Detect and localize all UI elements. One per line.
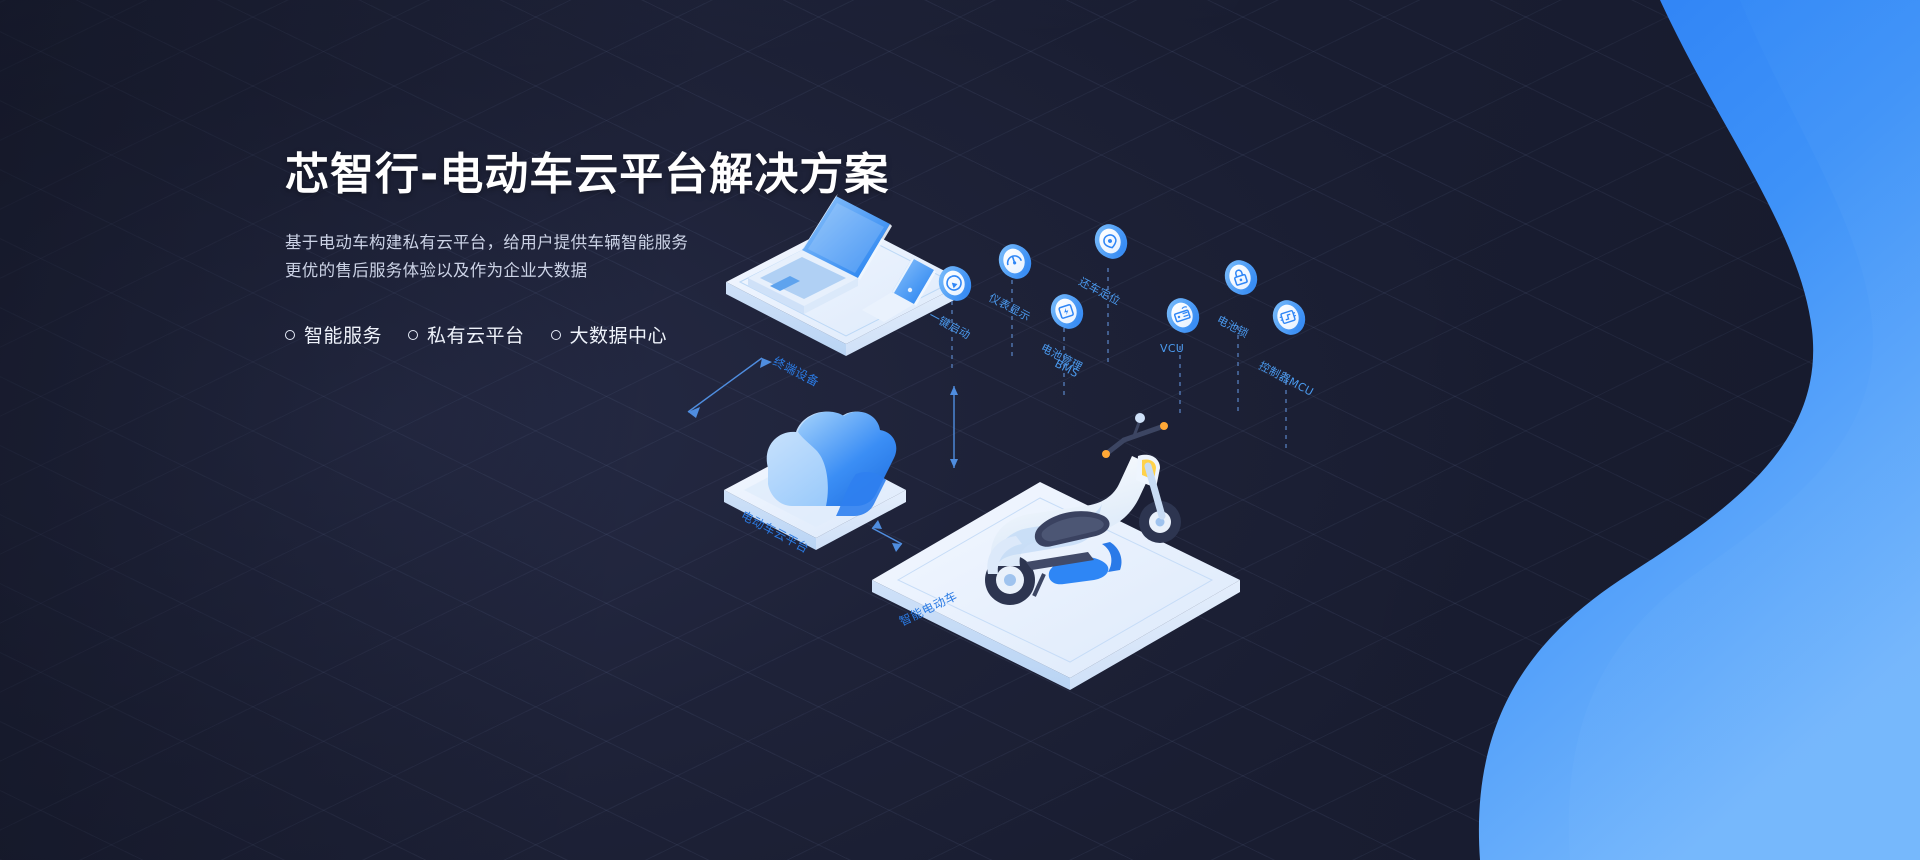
badge-return-location[interactable]: 还车定位 bbox=[1077, 220, 1132, 362]
badge-bms[interactable]: 电池管理 BMS bbox=[1039, 290, 1088, 398]
feature-item-private-cloud: 私有云平台 bbox=[408, 321, 525, 348]
isometric-illustration: 终端设备 电动车云平台 bbox=[640, 150, 1340, 710]
feature-item-smart-service: 智能服务 bbox=[285, 321, 382, 348]
platform-cloud: 电动车云平台 bbox=[724, 412, 906, 556]
badge-label: 仪表显示 bbox=[987, 290, 1033, 324]
badge-label: 电池锁 bbox=[1215, 312, 1252, 340]
feature-label: 智能服务 bbox=[304, 321, 382, 348]
badge-label: VCU bbox=[1160, 342, 1184, 355]
ring-bullet-icon bbox=[408, 330, 418, 340]
platform-vehicle: 智能电动车 bbox=[872, 413, 1240, 690]
badge-mcu[interactable]: 控制器MCU bbox=[1257, 296, 1317, 450]
platform-label-terminal: 终端设备 bbox=[771, 353, 822, 389]
badge-vcu[interactable]: VCU bbox=[1160, 294, 1204, 416]
ring-bullet-icon bbox=[551, 330, 561, 340]
ring-bullet-icon bbox=[285, 330, 295, 340]
badge-label: 一键启动 bbox=[927, 308, 973, 342]
connector-terminal-to-vehicle bbox=[950, 386, 958, 468]
badge-battery-lock[interactable]: 电池锁 bbox=[1215, 256, 1262, 412]
badge-dashboard[interactable]: 仪表显示 bbox=[987, 240, 1036, 356]
feature-label: 私有云平台 bbox=[427, 321, 525, 348]
badge-label: 还车定位 bbox=[1077, 274, 1123, 308]
connector-terminal-to-cloud bbox=[688, 358, 772, 418]
hero-banner: 芯智行-电动车云平台解决方案 基于电动车构建私有云平台，给用户提供车辆智能服务 … bbox=[0, 0, 1920, 860]
connector-cloud-to-vehicle bbox=[872, 520, 902, 552]
